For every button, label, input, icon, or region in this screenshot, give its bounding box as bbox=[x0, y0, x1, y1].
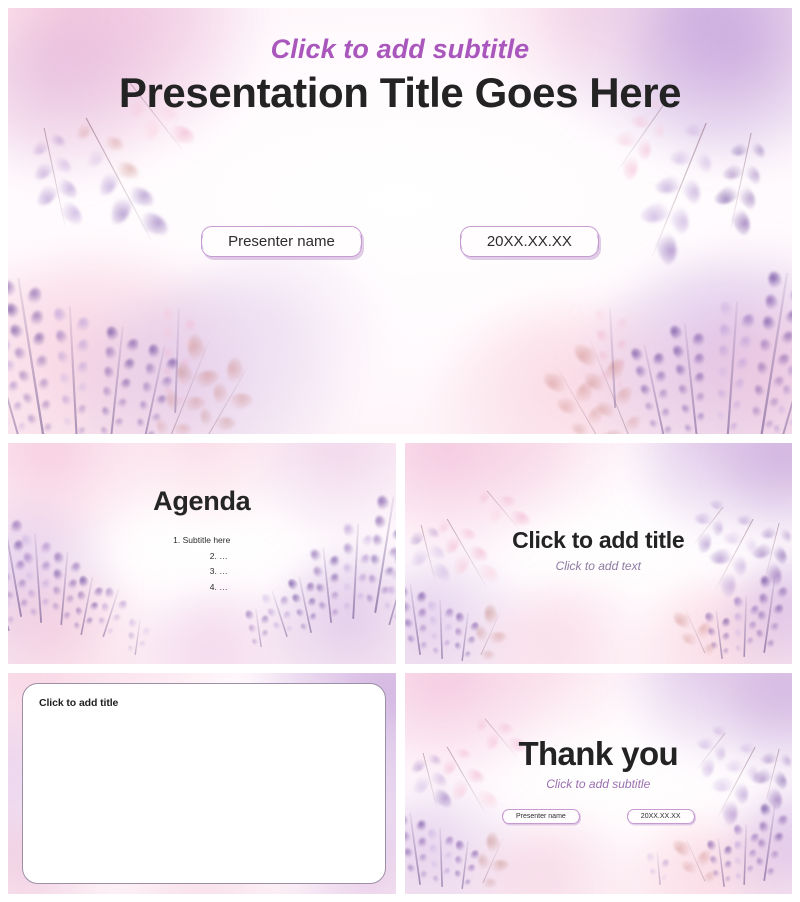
agenda-heading[interactable]: Agenda bbox=[8, 486, 396, 517]
slide-content-title: Click to add subtitle Presentation Title… bbox=[8, 8, 792, 434]
slide-deck-preview: Click to add subtitle Presentation Title… bbox=[0, 0, 800, 902]
agenda-list: 1. Subtitle here 2. … 3. … 4. … bbox=[8, 533, 396, 596]
slide-thumbnail-thank-you[interactable]: Thank you Click to add subtitle Presente… bbox=[405, 673, 793, 894]
list-item[interactable]: 4. … bbox=[8, 580, 396, 596]
thank-you-meta-row: Presenter name 20XX.XX.XX bbox=[405, 809, 793, 824]
hero-title-placeholder[interactable]: Presentation Title Goes Here bbox=[8, 71, 792, 116]
presenter-name-pill[interactable]: Presenter name bbox=[502, 809, 580, 824]
slide-thumbnail-section[interactable]: Click to add title Click to add text bbox=[405, 443, 793, 664]
slide-content-agenda: Agenda 1. Subtitle here 2. … 3. … 4. … bbox=[8, 443, 396, 664]
title-text-block: Click to add subtitle Presentation Title… bbox=[8, 34, 792, 116]
list-item[interactable]: 2. … bbox=[8, 549, 396, 565]
slide-content-thank-you: Thank you Click to add subtitle Presente… bbox=[405, 673, 793, 894]
slide-content-box: Click to add title bbox=[8, 673, 396, 894]
presentation-date-pill[interactable]: 20XX.XX.XX bbox=[460, 226, 599, 257]
presentation-date-pill[interactable]: 20XX.XX.XX bbox=[627, 809, 695, 824]
list-item[interactable]: 1. Subtitle here bbox=[8, 533, 396, 549]
section-text-block: Click to add title Click to add text bbox=[405, 527, 793, 573]
content-box-title-placeholder[interactable]: Click to add title bbox=[39, 697, 369, 709]
thank-you-heading[interactable]: Thank you bbox=[405, 735, 793, 773]
list-item[interactable]: 3. … bbox=[8, 564, 396, 580]
section-text-placeholder[interactable]: Click to add text bbox=[405, 559, 793, 573]
section-title-placeholder[interactable]: Click to add title bbox=[405, 527, 793, 554]
slide-thumbnail-title[interactable]: Click to add subtitle Presentation Title… bbox=[8, 8, 792, 434]
slide-content-section: Click to add title Click to add text bbox=[405, 443, 793, 664]
thank-you-subtitle-placeholder[interactable]: Click to add subtitle bbox=[405, 777, 793, 791]
hero-subtitle-placeholder[interactable]: Click to add subtitle bbox=[8, 34, 792, 65]
hero-meta-row: Presenter name 20XX.XX.XX bbox=[8, 226, 792, 257]
slide-thumbnail-content-box[interactable]: Click to add title bbox=[8, 673, 396, 894]
content-placeholder-box[interactable]: Click to add title bbox=[22, 683, 386, 884]
thumbnail-grid: Agenda 1. Subtitle here 2. … 3. … 4. … C… bbox=[8, 443, 792, 894]
thank-you-text-block: Thank you Click to add subtitle bbox=[405, 735, 793, 791]
presenter-name-pill[interactable]: Presenter name bbox=[201, 226, 362, 257]
slide-thumbnail-agenda[interactable]: Agenda 1. Subtitle here 2. … 3. … 4. … bbox=[8, 443, 396, 664]
